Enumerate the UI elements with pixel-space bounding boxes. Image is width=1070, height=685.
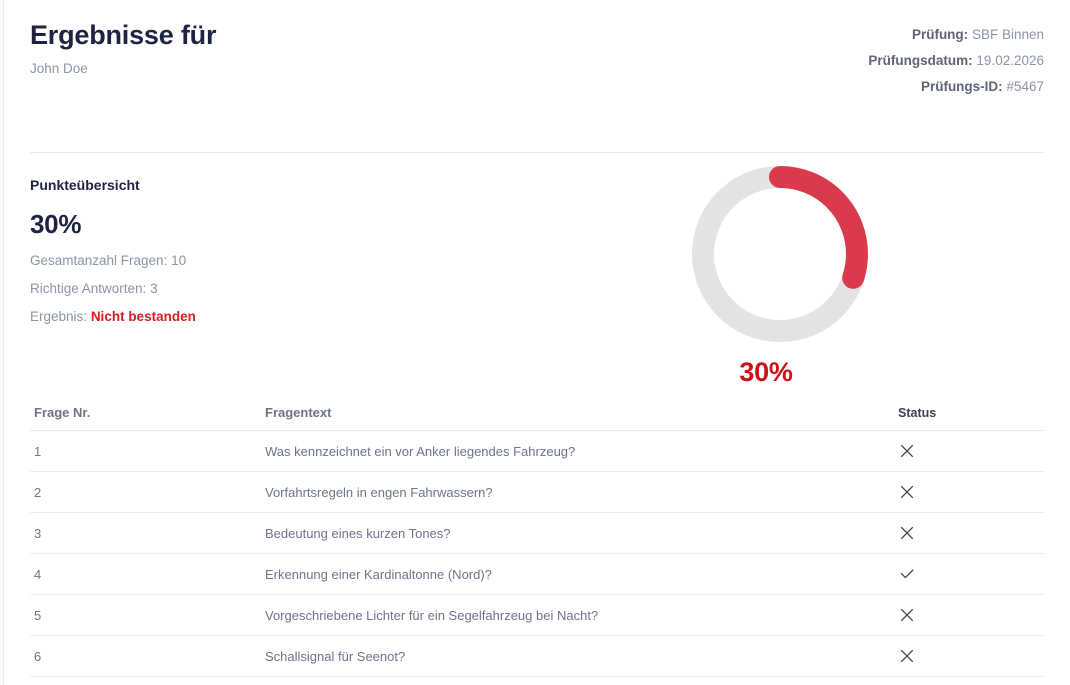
score-summary: Punkteübersicht 30% Gesamtanzahl Fragen:… xyxy=(30,176,450,325)
page-header: Ergebnisse für John Doe Prüfung: SBF Bin… xyxy=(30,18,1044,128)
table-row: 5Vorgeschriebene Lichter für ein Segelfa… xyxy=(30,595,1044,636)
column-header-question-number: Frage Nr. xyxy=(30,405,263,421)
cross-icon xyxy=(898,524,916,542)
table-row: 4Erkennung einer Kardinaltonne (Nord)? xyxy=(30,554,1044,595)
cell-question-text: Vorgeschriebene Lichter für ein Segelfah… xyxy=(263,608,895,623)
column-header-status: Status xyxy=(895,405,1040,421)
donut-percentage-label: 30% xyxy=(686,356,846,388)
cell-status xyxy=(895,606,1040,624)
cell-status xyxy=(895,565,1040,583)
score-donut-chart: 30% xyxy=(660,160,900,392)
summary-score: 30% xyxy=(30,209,450,240)
table-row: 6Schallsignal für Seenot? xyxy=(30,636,1044,677)
cell-question-number: 5 xyxy=(30,608,263,623)
header-divider xyxy=(30,152,1044,153)
meta-value-exam: SBF Binnen xyxy=(972,27,1044,42)
cell-question-number: 3 xyxy=(30,526,263,541)
summary-total-questions: Gesamtanzahl Fragen: 10 xyxy=(30,252,450,269)
table-row: 2Vorfahrtsregeln in engen Fahrwassern? xyxy=(30,472,1044,513)
cell-status xyxy=(895,647,1040,665)
meta-row-id: Prüfungs-ID: #5467 xyxy=(744,78,1044,95)
cross-icon xyxy=(898,442,916,460)
table-body: 1Was kennzeichnet ein vor Anker liegende… xyxy=(30,431,1044,677)
meta-row-exam: Prüfung: SBF Binnen xyxy=(744,26,1044,43)
results-page: Ergebnisse für John Doe Prüfung: SBF Bin… xyxy=(0,0,1070,685)
cell-status xyxy=(895,442,1040,460)
meta-row-date: Prüfungsdatum: 19.02.2026 xyxy=(744,52,1044,69)
column-header-question-text: Fragentext xyxy=(263,405,895,421)
cell-question-number: 1 xyxy=(30,444,263,459)
cross-icon xyxy=(898,606,916,624)
meta-value-date: 19.02.2026 xyxy=(976,53,1044,68)
cross-icon xyxy=(898,647,916,665)
summary-result-label: Ergebnis: xyxy=(30,309,87,324)
summary-title: Punkteübersicht xyxy=(30,176,450,195)
exam-meta: Prüfung: SBF Binnen Prüfungsdatum: 19.02… xyxy=(744,26,1044,104)
status-badge: Nicht bestanden xyxy=(91,309,196,324)
cell-question-text: Schallsignal für Seenot? xyxy=(263,649,895,664)
meta-label-id: Prüfungs-ID: xyxy=(921,79,1003,94)
cross-icon xyxy=(898,483,916,501)
cell-question-text: Erkennung einer Kardinaltonne (Nord)? xyxy=(263,567,895,582)
cell-question-number: 2 xyxy=(30,485,263,500)
table-row: 1Was kennzeichnet ein vor Anker liegende… xyxy=(30,431,1044,472)
cell-question-number: 4 xyxy=(30,567,263,582)
cell-status xyxy=(895,524,1040,542)
table-row: 3Bedeutung eines kurzen Tones? xyxy=(30,513,1044,554)
cell-question-number: 6 xyxy=(30,649,263,664)
summary-result: Ergebnis: Nicht bestanden xyxy=(30,308,450,325)
donut-svg xyxy=(690,164,870,344)
card-left-edge xyxy=(3,0,4,685)
cell-question-text: Was kennzeichnet ein vor Anker liegendes… xyxy=(263,444,895,459)
summary-correct-answers: Richtige Antworten: 3 xyxy=(30,280,450,297)
cell-question-text: Vorfahrtsregeln in engen Fahrwassern? xyxy=(263,485,895,500)
meta-value-id: #5467 xyxy=(1006,79,1044,94)
meta-label-exam: Prüfung: xyxy=(912,27,968,42)
meta-label-date: Prüfungsdatum: xyxy=(868,53,972,68)
cell-question-text: Bedeutung eines kurzen Tones? xyxy=(263,526,895,541)
results-table: Frage Nr. Fragentext Status 1Was kennzei… xyxy=(30,396,1044,677)
check-icon xyxy=(898,565,916,583)
cell-status xyxy=(895,483,1040,501)
table-header-row: Frage Nr. Fragentext Status xyxy=(30,396,1044,431)
